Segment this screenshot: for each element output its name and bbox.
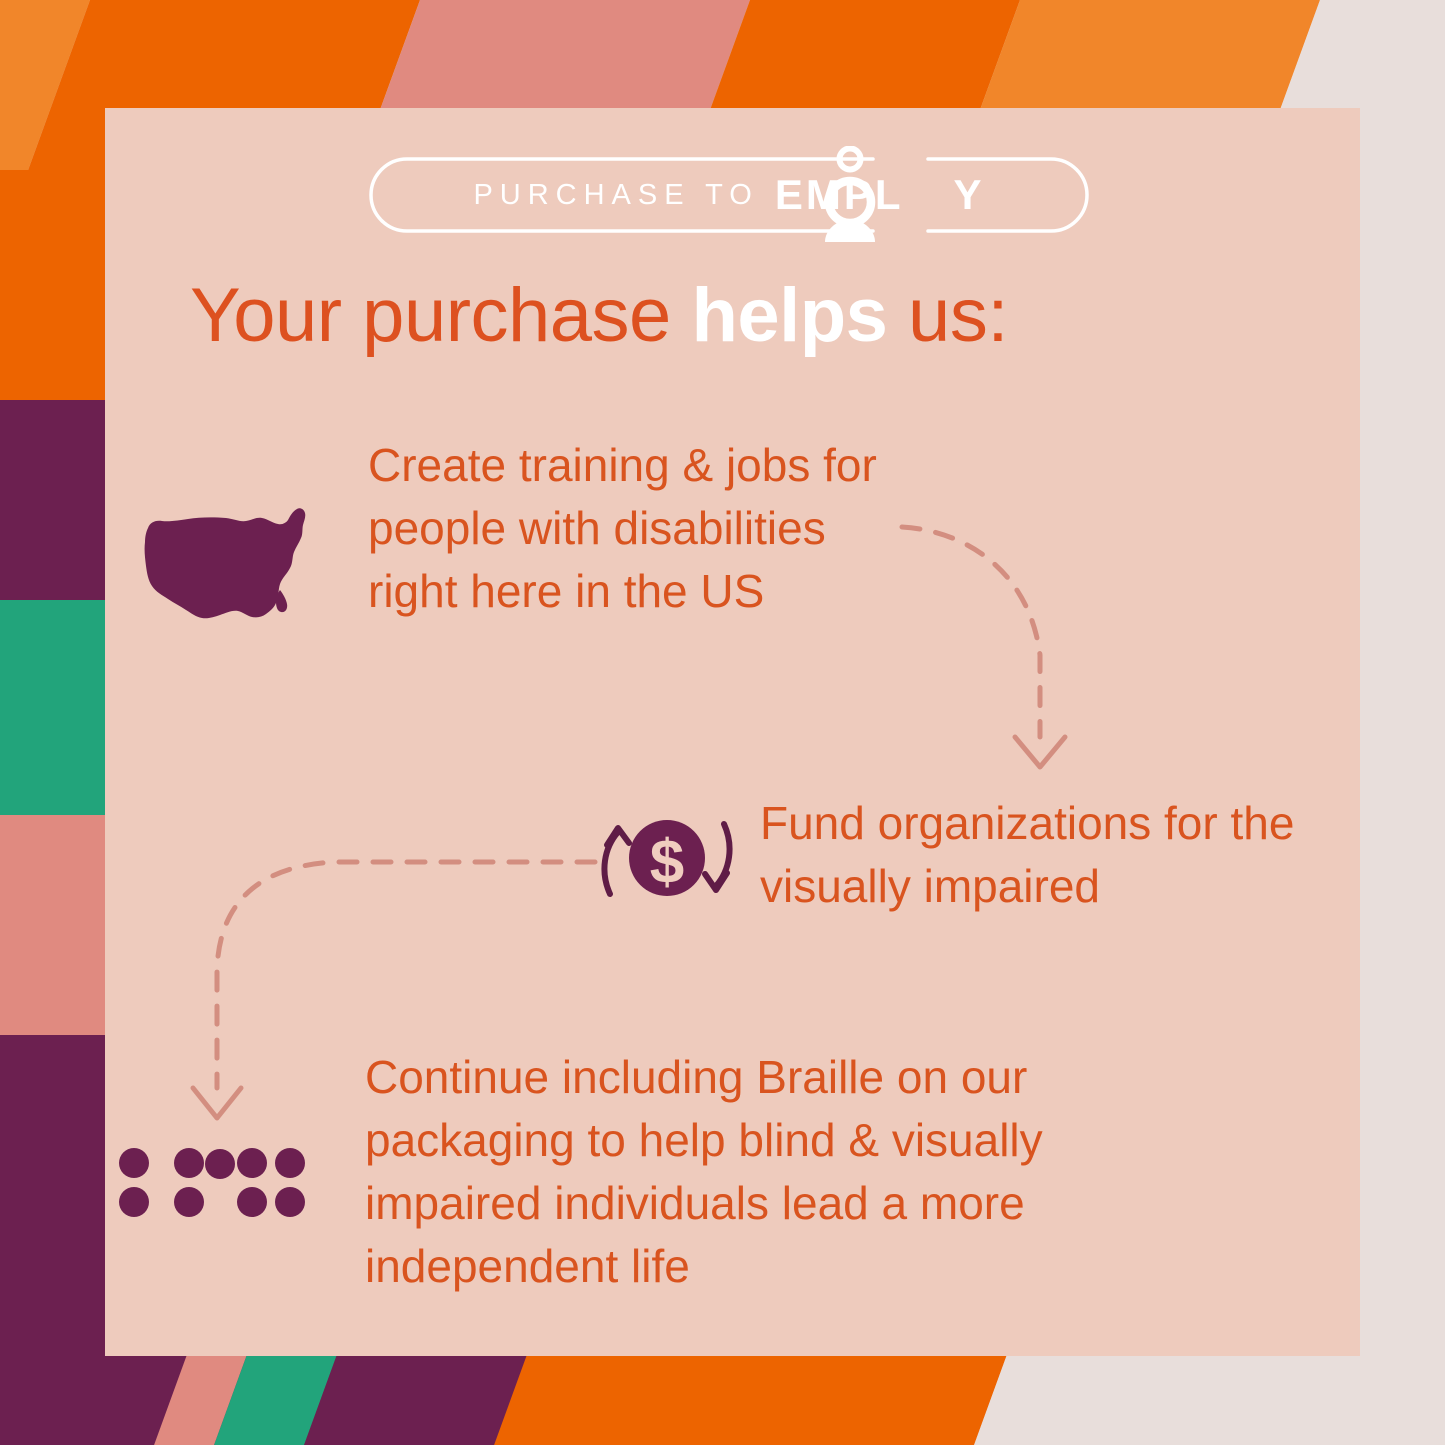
badge-employ-word: EMPLY [775, 171, 985, 219]
badge-small-text: PURCHASE TO [473, 179, 758, 212]
benefit-text-1: Create training & jobs for people with d… [368, 434, 888, 623]
dashed-arrow-down-right-icon [880, 505, 1095, 785]
purchase-to-employ-badge: PURCHASE TO EMPLY [368, 156, 1090, 234]
svg-text:$: $ [650, 828, 684, 897]
headline-part-1: Your purchase [190, 273, 691, 358]
page-title: Your purchase helps us: [190, 272, 1290, 359]
badge-text-group: PURCHASE TO EMPLY [368, 156, 1090, 234]
us-map-icon [130, 498, 342, 638]
headline-highlight: helps [691, 273, 887, 358]
badge-employ-after: Y [954, 171, 985, 218]
poster-canvas: PURCHASE TO EMPLY Your purchase helps us… [0, 0, 1445, 1445]
benefit-text-3: Continue including Braille on our packag… [365, 1046, 1165, 1298]
dollar-coin-icon: $ [592, 812, 742, 904]
braille-dots-icon [118, 1146, 318, 1218]
benefit-text-2: Fund organizations for the visually impa… [760, 792, 1320, 918]
person-icon [819, 146, 881, 250]
headline-part-2: us: [887, 273, 1008, 358]
